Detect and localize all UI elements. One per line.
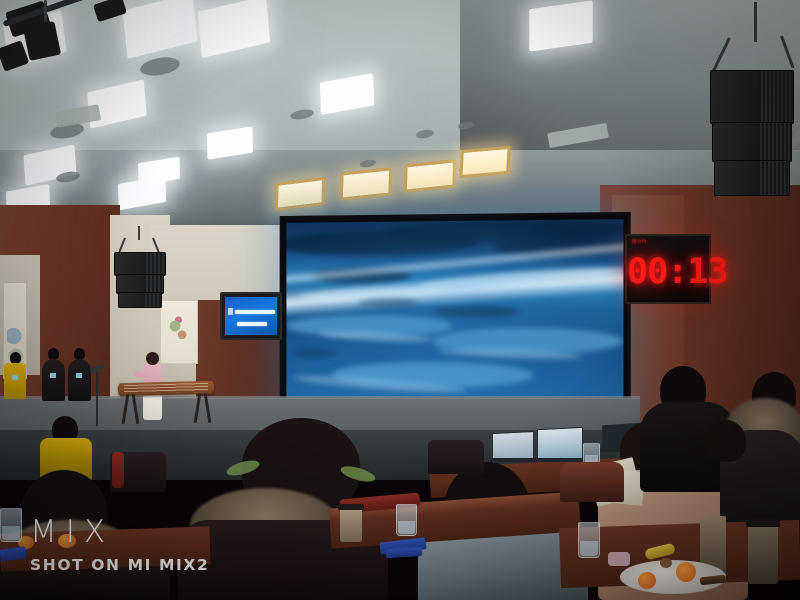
staff-vest-1 [4, 363, 26, 399]
performer-head [146, 352, 159, 365]
wave-mid-2 [432, 328, 624, 354]
speaker-cluster-right [700, 10, 800, 210]
laptop-2[interactable] [535, 428, 583, 464]
stage-spotlight-2 [23, 21, 61, 61]
water-glass-3 [578, 522, 600, 558]
thermos-cup [748, 524, 778, 584]
ceiling-light-panel-14 [459, 146, 510, 179]
speaker-grill-right-3 [758, 161, 789, 195]
speaker-box-right-1 [710, 70, 794, 124]
monitor-text-line-1 [235, 310, 275, 314]
water-level-4 [2, 526, 20, 540]
countdown-timer[interactable]: 倒计时 00:13 [625, 234, 711, 304]
timer-header-label: 倒计时 [632, 239, 647, 245]
timer-value: 00:13 [627, 252, 709, 292]
speaker-grill-right-1 [759, 71, 793, 123]
speaker-box-left-2 [116, 274, 164, 294]
speaker-grill-right-2 [758, 123, 791, 161]
laptop-1[interactable] [490, 432, 534, 464]
speaker-rigging-left-a [118, 238, 126, 254]
ceiling-hanger-rod [44, 0, 47, 22]
orange-2 [638, 572, 656, 589]
speaker-rigging-right [754, 2, 757, 42]
staff-coat-3 [68, 359, 91, 401]
speaker-box-right-2 [712, 122, 792, 162]
blue-stationery-2 [386, 547, 423, 558]
speaker-grill-left-1 [144, 253, 165, 275]
confidence-monitor[interactable] [220, 292, 282, 340]
wave-dark-6 [359, 298, 419, 307]
water-glass-2 [396, 504, 417, 536]
photo-scene: 倒计时 00:13 [0, 0, 800, 600]
laptop-1-screen [492, 431, 534, 461]
chair-3[interactable] [560, 462, 624, 502]
orange-1 [676, 562, 696, 582]
staff-badge-1 [12, 375, 18, 380]
mic-stand [96, 372, 98, 426]
wave-mid-1 [286, 315, 452, 336]
watermark-brand: MIX [30, 517, 209, 548]
mi-mix-watermark: MIX SHOT ON MI MIX2 [30, 517, 209, 574]
wave-dark-7 [293, 349, 339, 358]
ceiling-light-panel-15 [529, 0, 592, 51]
plate-napkin [608, 552, 630, 566]
staff-badge-3 [76, 373, 82, 378]
monitor-logo-icon [228, 308, 233, 315]
water-glass-4 [0, 508, 22, 542]
staff-badge-2 [50, 373, 56, 378]
staff-coat-2 [42, 359, 65, 401]
water-level-2 [398, 521, 415, 535]
guzheng-strings [124, 383, 208, 394]
speaker-rigging-right-b [780, 35, 794, 68]
speaker-rigging-right-a [712, 37, 730, 71]
speaker-box-right-3 [714, 160, 790, 196]
chair-2[interactable] [428, 440, 484, 474]
coffee-cup-1-lid [338, 504, 364, 510]
snack-item [660, 558, 672, 568]
thermos-lid [746, 519, 780, 527]
ceiling-light-panel-12 [340, 167, 393, 201]
watermark-tagline: SHOT ON MI MIX2 [30, 556, 209, 574]
water-level-3 [580, 541, 598, 556]
hanging-scroll-center [160, 300, 198, 364]
speaker-box-left-3 [118, 292, 162, 308]
speaker-grill-left-3 [143, 293, 161, 307]
laptop-1-base [490, 458, 536, 462]
speaker-rigging-left [138, 226, 140, 240]
ceiling-light-panel-13 [404, 159, 457, 193]
speaker-box-left-1 [114, 252, 166, 276]
coffee-cup-1 [340, 508, 362, 542]
monitor-text-line-2 [237, 322, 267, 326]
confidence-monitor-screen [225, 297, 277, 335]
chair-back-1 [112, 452, 124, 488]
speaker-cluster-left [112, 232, 168, 304]
attendee-back-mid-head [706, 420, 746, 462]
speaker-rigging-left-b [152, 238, 160, 254]
laptop-2-screen [537, 427, 583, 461]
speaker-grill-left-2 [144, 275, 163, 293]
